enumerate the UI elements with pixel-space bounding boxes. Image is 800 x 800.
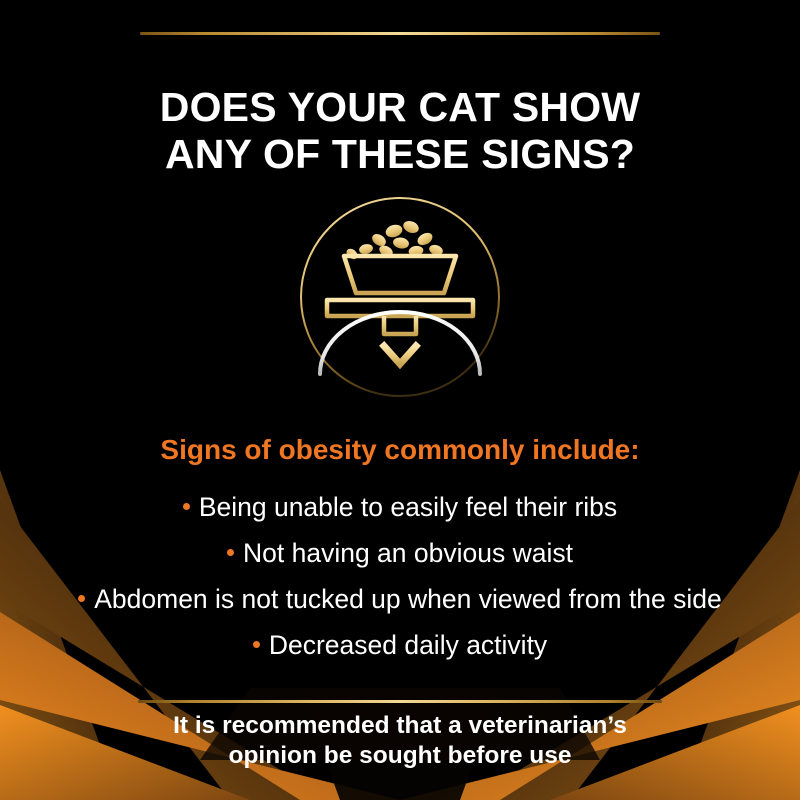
footnote-line-2: opinion be sought before use — [0, 741, 800, 771]
bullet-dot-icon — [183, 503, 190, 510]
headline-line-1: DOES YOUR CAT SHOW — [0, 84, 800, 131]
bullet-dot-icon — [227, 549, 234, 556]
list-item-label: Decreased daily activity — [269, 630, 547, 660]
bullet-dot-icon — [253, 641, 260, 648]
list-item: Abdomen is not tucked up when viewed fro… — [0, 576, 800, 622]
down-arrow — [384, 324, 416, 364]
poster-root: DOES YOUR CAT SHOW ANY OF THESE SIGNS? — [0, 0, 800, 800]
weight-management-food-bowl-icon — [294, 196, 506, 398]
list-item: Decreased daily activity — [0, 622, 800, 668]
list-item: Being unable to easily feel their ribs — [0, 484, 800, 530]
footnote-line-1: It is recommended that a veterinarian’s — [0, 711, 800, 741]
list-item-label: Being unable to easily feel their ribs — [199, 492, 617, 522]
signs-list: Being unable to easily feel their ribs N… — [0, 484, 800, 668]
list-item-label: Abdomen is not tucked up when viewed fro… — [94, 584, 722, 614]
headline-line-2: ANY OF THESE SIGNS? — [0, 131, 800, 178]
section-subheading: Signs of obesity commonly include: — [0, 433, 800, 467]
bottom-divider — [138, 700, 662, 703]
footnote: It is recommended that a veterinarian’s … — [0, 711, 800, 771]
top-divider — [140, 32, 660, 35]
list-item-label: Not having an obvious waist — [243, 538, 573, 568]
bullet-dot-icon — [78, 595, 85, 602]
page-title: DOES YOUR CAT SHOW ANY OF THESE SIGNS? — [0, 84, 800, 178]
food-bowl — [344, 256, 456, 293]
list-item: Not having an obvious waist — [0, 530, 800, 576]
